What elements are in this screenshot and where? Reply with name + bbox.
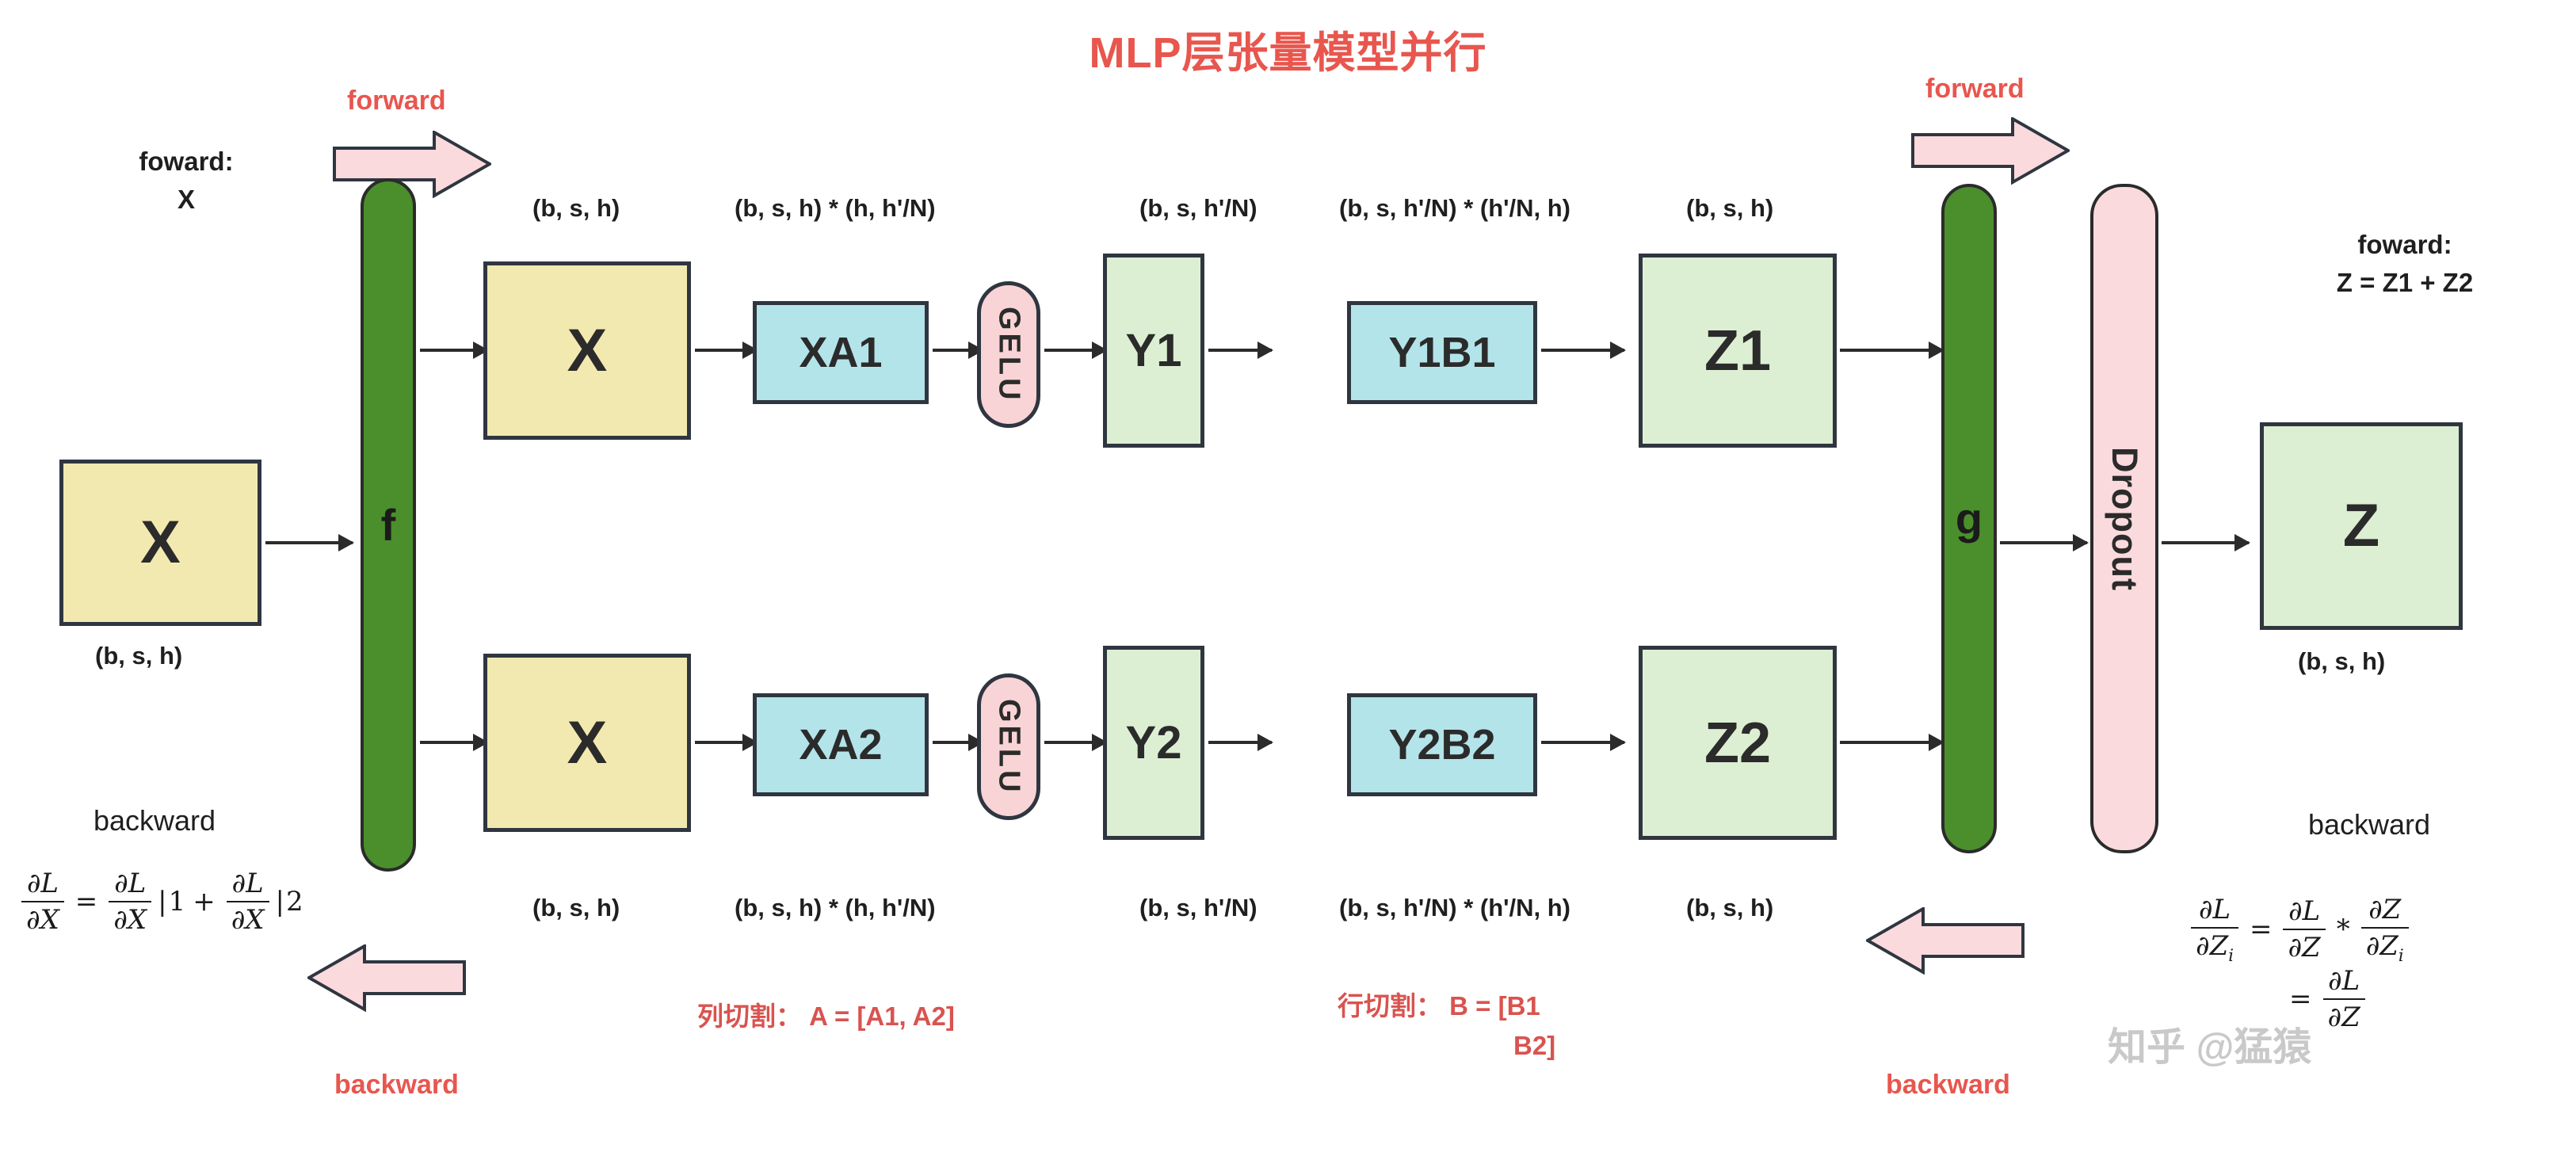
row1-x-box: X [483, 261, 691, 440]
dim-bottom-1: (b, s, h) [532, 894, 620, 922]
right-formula-lhs-den: ∂Zi [2191, 927, 2238, 965]
connector-row2-xa2-to-gelu [933, 741, 983, 744]
backward-block-arrow-left [307, 944, 466, 1012]
formula-equals: = [75, 886, 98, 918]
input-x-box: X [59, 460, 261, 626]
g-collective-column: g [1941, 184, 1997, 853]
note-row-split-line1: 行切割： B = [B1 [1338, 986, 1555, 1026]
watermark: 知乎 @猛猿 [2108, 1016, 2311, 1072]
dropout-label: Dropout [2104, 447, 2145, 591]
dim-bottom-5: (b, s, h) [1686, 894, 1773, 922]
row1-xa-box: XA1 [753, 301, 929, 404]
right-backward-label: backward [2262, 804, 2476, 845]
f-label: f [381, 499, 396, 551]
formula-term2-den: ∂X [227, 901, 269, 936]
connector-dropout-to-z [2162, 541, 2249, 544]
connector-row1-gelu-to-y1 [1044, 349, 1106, 352]
connector-row2-y2-to-y2b2 [1208, 741, 1272, 744]
right-forward-note: foward: Z = Z1 + Z2 [2274, 226, 2536, 302]
formula-term2: ∂L ∂X [227, 868, 269, 936]
row2-z-label: Z2 [1704, 715, 1771, 772]
row1-gelu-label: GELU [992, 307, 1026, 403]
connector-row2-y2b2-to-z2 [1541, 741, 1624, 744]
connector-row2-x-to-xa2 [695, 741, 757, 744]
right-formula-line2-term: ∂L ∂Z [2323, 965, 2365, 1033]
left-backward-formula: ∂L ∂X = ∂L ∂X | 1 + ∂L ∂X | 2 [17, 868, 303, 936]
connector-row1-x-to-xa1 [695, 349, 757, 352]
formula-term1-bar: | [158, 886, 166, 918]
page-title: MLP层张量模型并行 [0, 17, 2576, 80]
row2-y-label: Y2 [1126, 720, 1182, 766]
formula-lhs-num: ∂L [22, 868, 63, 901]
connector-row2-z2-to-g [1840, 741, 1943, 744]
right-backward-formula: ∂L ∂Zi = ∂L ∂Z * ∂Z ∂Zi = ∂L ∂Z [2187, 894, 2413, 1033]
right-formula-term1-den: ∂Z [2283, 929, 2325, 963]
diagram-canvas: MLP层张量模型并行 foward: X forward X (b, s, h)… [0, 0, 2576, 1156]
note-column-split: 列切割： A = [A1, A2] [697, 997, 955, 1036]
dim-bottom-3: (b, s, h'/N) [1139, 894, 1257, 922]
connector-row1-y1b1-to-z1 [1541, 349, 1624, 352]
left-forward-note-line1: foward: [95, 143, 277, 181]
row2-x-box: X [483, 654, 691, 832]
formula-term1-index: 1 [169, 886, 186, 918]
connector-f-to-row2-x [420, 741, 487, 744]
formula-lhs: ∂L ∂X [21, 868, 64, 936]
connector-row1-xa1-to-gelu [933, 349, 983, 352]
connector-row2-gelu-to-y2 [1044, 741, 1106, 744]
dim-top-2: (b, s, h) * (h, h'/N) [735, 194, 936, 223]
row1-yb-box: Y1B1 [1347, 301, 1537, 404]
row2-xa-label: XA2 [799, 723, 882, 766]
formula-term1-den: ∂X [109, 901, 151, 936]
row1-xa-label: XA1 [799, 331, 882, 374]
formula-term2-num: ∂L [227, 868, 269, 901]
dim-top-4: (b, s, h'/N) * (h'/N, h) [1339, 194, 1570, 223]
left-backward-label: backward [59, 800, 250, 841]
row1-x-label: X [567, 321, 608, 381]
formula-plus: + [193, 886, 216, 918]
formula-term1-num: ∂L [109, 868, 151, 901]
dim-top-5: (b, s, h) [1686, 194, 1773, 223]
row1-y-box: Y1 [1103, 254, 1204, 448]
f-collective-column: f [361, 178, 416, 872]
row1-gelu-node: GELU [977, 281, 1040, 428]
right-formula-line2-den: ∂Z [2323, 998, 2365, 1033]
row2-x-label: X [567, 713, 608, 773]
left-backward-arrow-label: backward [334, 1070, 459, 1101]
row2-xa-box: XA2 [753, 693, 929, 796]
connector-g-to-dropout [2000, 541, 2087, 544]
row1-z-label: Z1 [1704, 322, 1771, 380]
right-formula-line2-equals: = [2289, 983, 2312, 1015]
right-formula-term1: ∂L ∂Z [2283, 895, 2325, 963]
right-formula-term2-den: ∂Zi [2361, 927, 2409, 965]
right-formula-line1: ∂L ∂Zi = ∂L ∂Z * ∂Z ∂Zi [2187, 894, 2413, 965]
row1-z-box: Z1 [1639, 254, 1837, 448]
right-forward-note-line1: foward: [2274, 226, 2536, 264]
backward-block-arrow-right [1866, 907, 2025, 975]
left-forward-arrow-label: forward [347, 86, 446, 116]
dim-top-3: (b, s, h'/N) [1139, 194, 1257, 223]
input-x-dim: (b, s, h) [95, 642, 182, 670]
formula-lhs-den: ∂X [21, 901, 64, 936]
row2-gelu-label: GELU [992, 699, 1026, 795]
row2-z-box: Z2 [1639, 646, 1837, 840]
right-formula-line2-num: ∂L [2323, 965, 2364, 998]
row2-y-box: Y2 [1103, 646, 1204, 840]
formula-term2-bar: | [276, 886, 284, 918]
dim-bottom-2: (b, s, h) * (h, h'/N) [735, 894, 936, 922]
right-formula-multiply: * [2337, 914, 2350, 945]
row1-y-label: Y1 [1126, 328, 1182, 374]
formula-term1: ∂L ∂X [109, 868, 151, 936]
note-row-split: 行切割： B = [B1 B2] [1338, 986, 1555, 1065]
left-forward-note-line2: X [95, 181, 277, 219]
connector-row1-y1-to-y1b1 [1208, 349, 1272, 352]
output-z-box: Z [2260, 422, 2463, 630]
forward-block-arrow-right [1911, 117, 2070, 185]
right-formula-lhs: ∂L ∂Zi [2191, 894, 2238, 965]
right-forward-note-line2: Z = Z1 + Z2 [2274, 264, 2536, 302]
dropout-column: Dropout [2090, 184, 2158, 853]
row2-yb-box: Y2B2 [1347, 693, 1537, 796]
right-backward-arrow-label: backward [1886, 1070, 2010, 1101]
right-formula-term2: ∂Z ∂Zi [2361, 894, 2409, 965]
formula-term2-index: 2 [286, 886, 303, 918]
right-formula-term2-num: ∂Z [2364, 894, 2406, 927]
row2-gelu-node: GELU [977, 673, 1040, 820]
right-formula-lhs-num: ∂L [2194, 894, 2235, 927]
right-forward-arrow-label: forward [1925, 74, 2025, 105]
output-z-dim: (b, s, h) [2298, 647, 2385, 676]
right-formula-equals: = [2250, 914, 2273, 945]
row1-yb-label: Y1B1 [1388, 331, 1495, 374]
note-row-split-line2: B2] [1338, 1026, 1555, 1066]
right-formula-term1-num: ∂L [2284, 895, 2325, 929]
connector-x-to-f [265, 541, 353, 544]
g-label: g [1956, 493, 1983, 544]
forward-block-arrow-left [333, 131, 491, 198]
dim-bottom-4: (b, s, h'/N) * (h'/N, h) [1339, 894, 1570, 922]
left-forward-note: foward: X [95, 143, 277, 219]
connector-f-to-row1-x [420, 349, 487, 352]
dim-top-1: (b, s, h) [532, 194, 620, 223]
output-z-label: Z [2343, 496, 2379, 556]
row2-yb-label: Y2B2 [1388, 723, 1495, 766]
input-x-label: X [140, 513, 181, 573]
connector-row1-z1-to-g [1840, 349, 1943, 352]
